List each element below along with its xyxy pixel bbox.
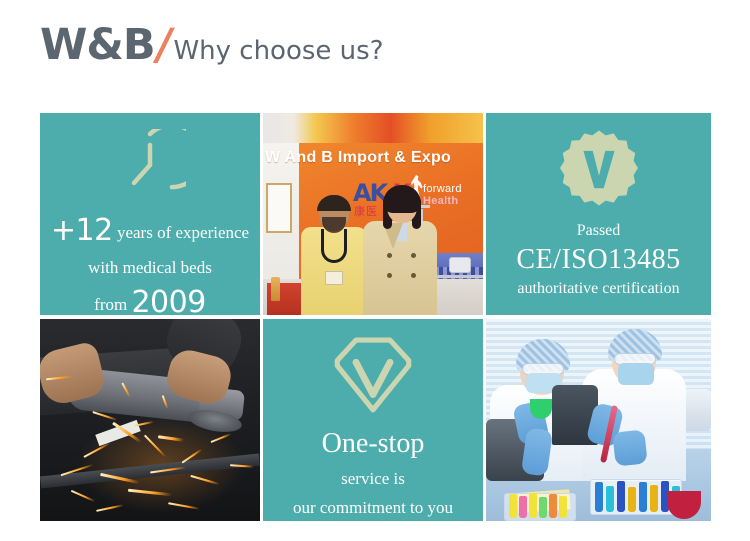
person-male [301,197,367,315]
booth-photo-image: W And B Import & Expo AK K 康医 forward He… [263,113,483,315]
lab-photo-image [486,319,711,521]
brand-logo-text: W&B [40,24,155,67]
certification-standard: CE/ISO13485 [516,244,680,276]
diamond-v-icon [330,335,416,420]
one-stop-line-3: our commitment to you [293,498,453,518]
why-choose-us-page: W&B / Why choose us? +12 years of experi… [0,0,750,541]
clock-icon [114,129,186,206]
experience-year-prefix: from [94,295,127,314]
page-title: Why choose us? [173,38,383,64]
one-stop-title: One-stop [322,428,425,460]
booth-bottle [271,277,280,301]
booth-framed-certificate [266,183,292,233]
feature-grid: +12 years of experience with medical bed… [40,113,710,521]
gloved-hand-d [612,429,647,466]
one-stop-line-2: service is [341,469,405,489]
experience-line-3: from 2009 [94,286,206,315]
booth-ceiling [263,113,483,143]
page-header: W&B / Why choose us? [40,24,384,80]
panel-lab-photo [486,319,711,521]
certification-status: Passed [577,222,621,240]
experience-count: +12 [51,213,113,248]
experience-line-1: +12 years of experience [51,214,249,249]
experience-year: 2009 [131,285,205,315]
panel-booth-photo: W And B Import & Expo AK K 康医 forward He… [263,113,483,315]
panel-manufacturing-photo [40,319,260,521]
certification-caption: authoritative certification [517,280,679,298]
panel-certification: Passed CE/ISO13485 authoritative certifi… [486,113,711,315]
experience-line-2: with medical beds [88,258,212,278]
panel-one-stop-service: One-stop service is our commitment to yo… [263,319,483,521]
scientist-two-mask [618,363,654,385]
metal-bar [40,454,260,489]
colored-tube-rack [504,493,576,521]
booth-banner-text: W And B Import & Expo [265,149,483,167]
verified-badge-icon [560,129,638,212]
panel-experience: +12 years of experience with medical bed… [40,113,260,315]
experience-count-suffix: years of experience [117,223,249,242]
person-female [363,189,437,315]
bed-control-panel [449,257,471,273]
brand-logo-slash: / [152,24,175,67]
manufacturing-photo-image [40,319,260,521]
bright-metal-edge [95,420,140,446]
